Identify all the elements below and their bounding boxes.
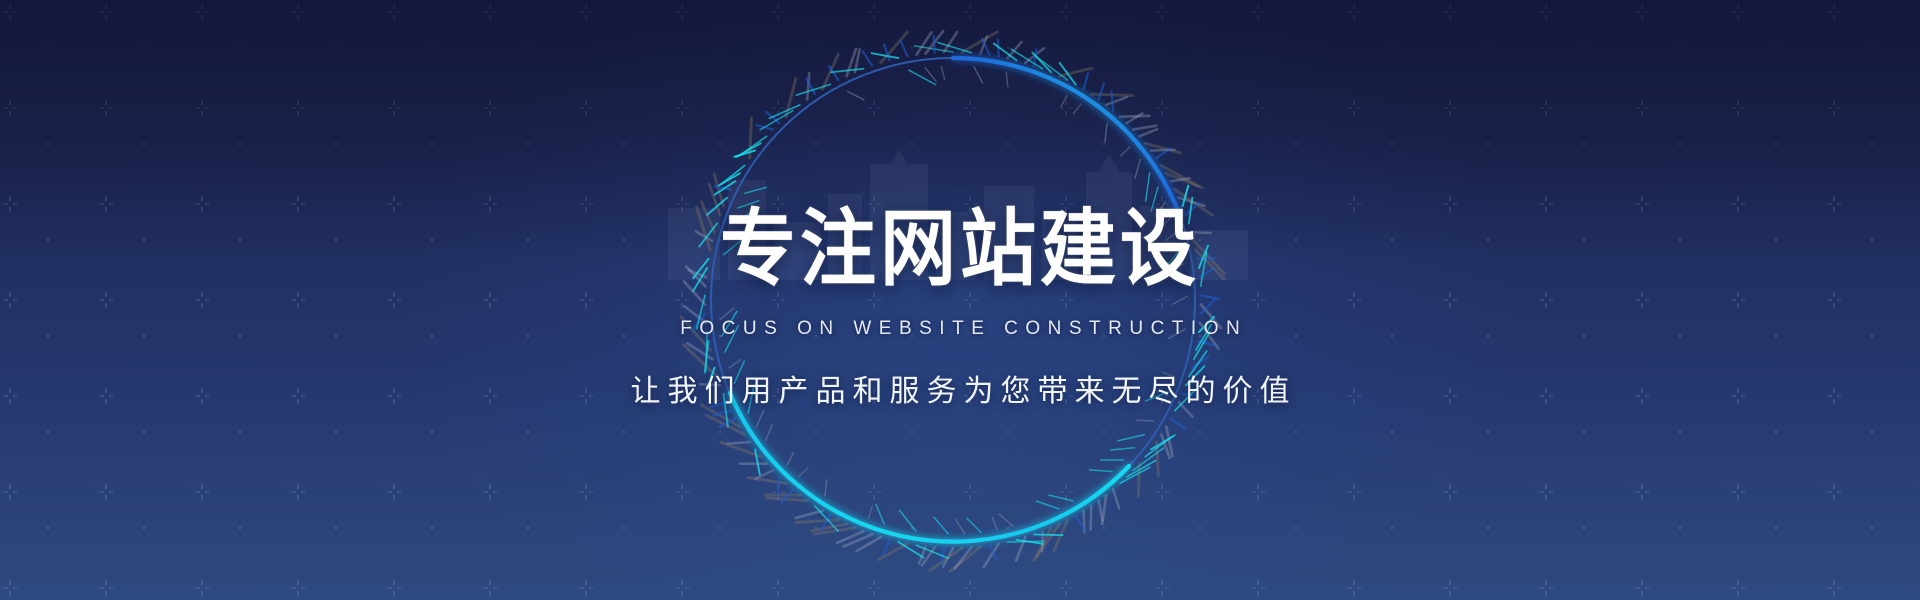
hero-banner: 专注网站建设 FOCUS ON WEBSITE CONSTRUCTION 让我们… xyxy=(0,0,1920,600)
hero-text-block: 专注网站建设 FOCUS ON WEBSITE CONSTRUCTION 让我们… xyxy=(0,0,1920,600)
subtitle-english: FOCUS ON WEBSITE CONSTRUCTION xyxy=(673,318,1247,340)
tagline-chinese: 让我们用产品和服务为您带来无尽的价值 xyxy=(624,366,1297,410)
page-title: 专注网站建设 xyxy=(720,208,1200,292)
